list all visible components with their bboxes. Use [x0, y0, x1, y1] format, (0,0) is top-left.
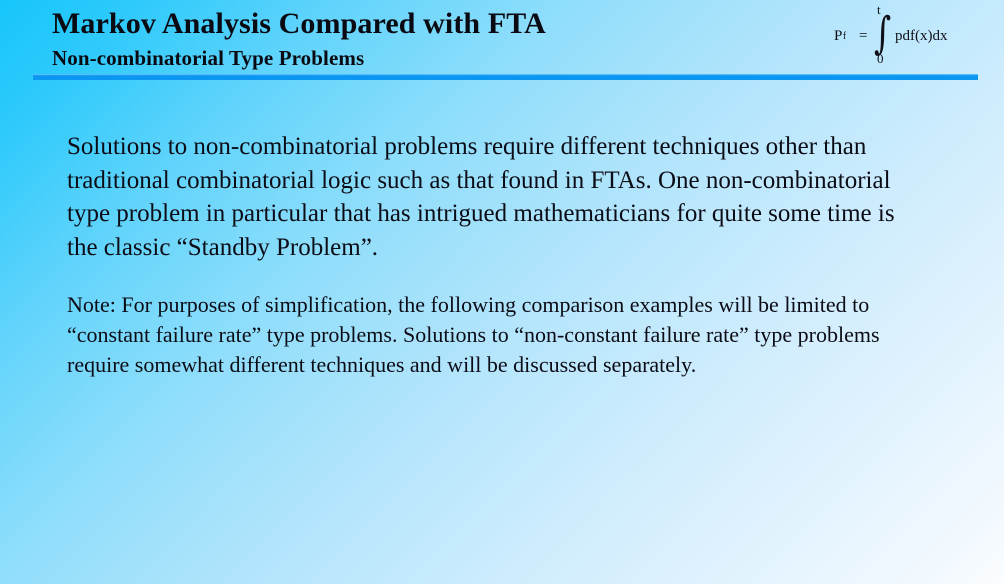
- integral-sign-icon: ∫: [874, 12, 891, 56]
- formula-integrand: pdf(x)dx: [895, 28, 948, 45]
- slide-canvas: Markov Analysis Compared with FTA Non-co…: [0, 0, 1004, 584]
- formula-lhs-subscript: f: [843, 31, 846, 42]
- body-paragraph-note: Note: For purposes of simplification, th…: [67, 290, 907, 380]
- body-paragraph-intro: Solutions to non-combinatorial problems …: [67, 130, 912, 264]
- title-block: Markov Analysis Compared with FTA Non-co…: [52, 6, 812, 72]
- page-title: Markov Analysis Compared with FTA: [52, 6, 812, 42]
- formula-lhs-symbol: P: [834, 28, 842, 45]
- formula-equals-sign: =: [859, 28, 867, 45]
- formula-lhs-pf: Pf: [834, 28, 846, 45]
- probability-formula: Pf = t ∫ 0 pdf(x)dx: [826, 4, 996, 70]
- page-subtitle: Non-combinatorial Type Problems: [52, 44, 812, 72]
- slide-header: Markov Analysis Compared with FTA Non-co…: [0, 0, 1004, 86]
- header-divider-rule: [33, 74, 978, 80]
- formula-lower-limit: 0: [877, 51, 884, 67]
